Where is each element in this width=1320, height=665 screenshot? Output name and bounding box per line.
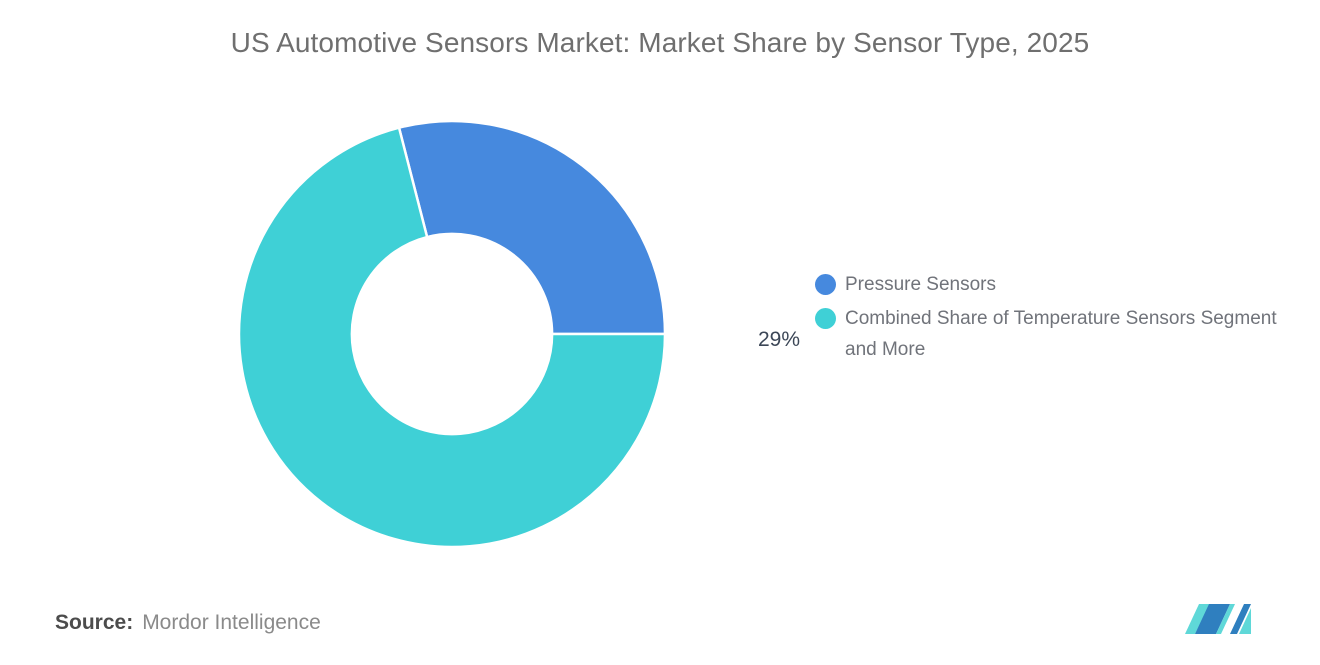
legend-swatch-icon-combined-share <box>815 308 836 329</box>
source-value: Mordor Intelligence <box>142 611 321 635</box>
mordor-intelligence-logo-icon <box>1183 598 1253 638</box>
donut-chart-svg <box>239 121 665 547</box>
legend-item-combined-share[interactable]: Combined Share of Temperature Sensors Se… <box>815 306 1285 366</box>
donut-slice-group <box>239 121 665 547</box>
legend-item-pressure-sensors[interactable]: Pressure Sensors <box>815 272 1285 301</box>
source-label: Source: <box>55 611 133 635</box>
legend-swatch-icon-pressure-sensors <box>815 274 836 295</box>
source-attribution: Source: Mordor Intelligence <box>55 611 321 635</box>
chart-legend: Pressure Sensors Combined Share of Tempe… <box>815 272 1285 370</box>
legend-label-pressure-sensors: Pressure Sensors <box>845 270 996 301</box>
donut-slice-1[interactable] <box>399 121 665 334</box>
donut-chart: 29% <box>239 121 665 547</box>
page-title: US Automotive Sensors Market: Market Sha… <box>0 27 1320 59</box>
legend-label-combined-share: Combined Share of Temperature Sensors Se… <box>845 304 1285 366</box>
